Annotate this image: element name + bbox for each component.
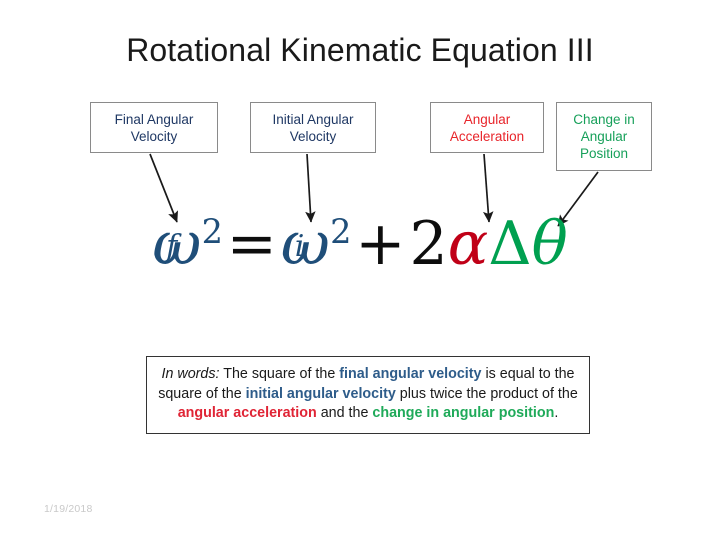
- theta-glyph: θ: [532, 209, 568, 279]
- omega-f-subscript: f: [166, 232, 177, 262]
- slide-canvas: Rotational Kinematic Equation III Final …: [0, 0, 720, 539]
- callout-line-2: Velocity: [290, 129, 337, 144]
- callout-line-1: Change in: [573, 112, 635, 127]
- in-words-highlight-change-in-angular-position: change in angular position: [372, 405, 554, 421]
- callout-initial-angular-velocity-label: Initial Angular Velocity: [272, 111, 353, 145]
- callout-line-2: Angular: [581, 129, 628, 144]
- callout-line-1: Initial Angular: [272, 112, 353, 127]
- callout-change-in-angular-position: Change in Angular Position: [556, 102, 652, 171]
- in-words-segment-4: and the: [317, 405, 373, 421]
- callout-angular-acceleration: Angular Acceleration: [430, 102, 544, 153]
- equation: ω2f=ω2i+2αΔθ: [0, 214, 720, 274]
- in-words-highlight-final-angular-velocity: final angular velocity: [339, 366, 481, 382]
- callout-line-2: Acceleration: [450, 129, 524, 144]
- in-words-highlight-angular-acceleration: angular acceleration: [178, 405, 317, 421]
- callout-line-3: Position: [580, 146, 628, 161]
- callout-final-angular-velocity-label: Final Angular Velocity: [115, 111, 194, 145]
- coefficient-two: 2: [410, 209, 448, 279]
- in-words-segment-1: The square of the: [220, 366, 340, 382]
- in-words-highlight-initial-angular-velocity: initial angular velocity: [246, 386, 396, 402]
- in-words-box: In words: The square of the final angula…: [146, 356, 590, 434]
- page-title: Rotational Kinematic Equation III: [0, 33, 720, 68]
- term-omega-i-squared: ω2i: [281, 214, 351, 274]
- callout-line-2: Velocity: [131, 129, 178, 144]
- alpha-glyph: α: [448, 209, 489, 279]
- term-omega-f-squared: ω2f: [152, 214, 222, 274]
- callout-angular-acceleration-label: Angular Acceleration: [450, 111, 524, 145]
- callout-line-1: Angular: [464, 112, 511, 127]
- delta-glyph: Δ: [488, 209, 531, 279]
- callout-change-in-angular-position-label: Change in Angular Position: [573, 111, 635, 162]
- omega-i-subscript: i: [295, 232, 305, 262]
- plus-sign: +: [351, 209, 409, 279]
- omega-i-exponent: 2: [330, 212, 351, 251]
- callout-initial-angular-velocity: Initial Angular Velocity: [250, 102, 376, 153]
- in-words-lead: In words:: [162, 366, 220, 382]
- in-words-segment-3: plus twice the product of the: [396, 386, 578, 402]
- equals-sign: =: [223, 209, 281, 279]
- in-words-segment-5: .: [554, 405, 558, 421]
- callout-final-angular-velocity: Final Angular Velocity: [90, 102, 218, 153]
- omega-glyph: ω: [281, 209, 330, 279]
- date-stamp: 1/19/2018: [44, 503, 93, 515]
- callout-line-1: Final Angular: [115, 112, 194, 127]
- omega-f-exponent: 2: [202, 212, 223, 251]
